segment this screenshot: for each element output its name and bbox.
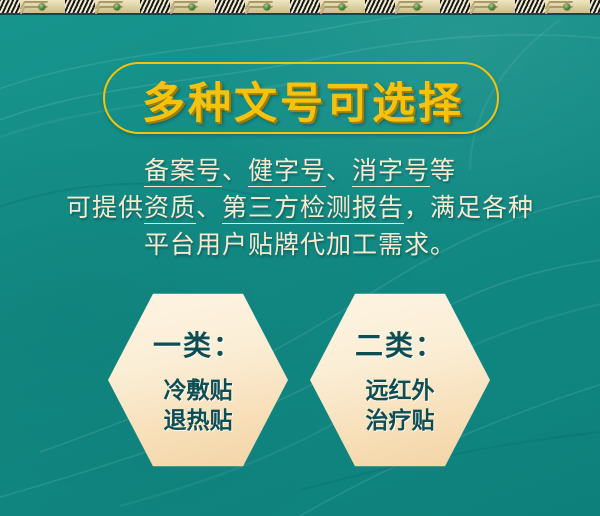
border-hatch-motif xyxy=(65,0,95,13)
border-hatch-motif xyxy=(440,0,470,13)
category-2-item-1: 远红外 xyxy=(366,376,435,406)
category-hexagon-1[interactable]: 一类： 冷敷贴 退热贴 xyxy=(108,292,288,468)
category-1-item-1: 冷敷贴 xyxy=(164,376,233,406)
description-segment-2-1: 可提供 xyxy=(66,193,144,222)
border-hatch-motif xyxy=(215,0,245,13)
border-jade-dot-icon xyxy=(114,4,120,10)
top-ornamental-border xyxy=(0,0,600,15)
border-hatch-motif xyxy=(365,0,395,13)
category-hexagon-2[interactable]: 二类： 远红外 治疗贴 xyxy=(310,292,490,468)
border-jade-dot-icon xyxy=(564,4,570,10)
category-hexagon-2-content: 二类： 远红外 治疗贴 xyxy=(310,292,490,468)
poster-canvas: 多种文号可选择 备案号、健字号、消字号等 可提供资质、第三方检测报告，满足各种 … xyxy=(0,0,600,516)
description-segment-1-6: 等 xyxy=(430,156,456,185)
description-segment-1-3: 健字号 xyxy=(248,156,326,187)
border-hatch-motif xyxy=(140,0,170,13)
description-line-3: 平台用户贴牌代加工需求。 xyxy=(0,226,600,263)
border-jade-dot-icon xyxy=(189,4,195,10)
description-segment-1-1: 备案号 xyxy=(144,156,222,187)
page-title: 多种文号可选择 xyxy=(105,64,501,136)
border-jade-dot-icon xyxy=(264,4,270,10)
description-segment-1-5: 消字号 xyxy=(352,156,430,187)
description-segment-2-4: 第三方检测报告 xyxy=(222,193,404,224)
description-line-2: 可提供资质、第三方检测报告，满足各种 xyxy=(0,189,600,226)
border-jade-dot-icon xyxy=(489,4,495,10)
description-segment-1-2: 、 xyxy=(222,156,248,185)
border-jade-dot-icon xyxy=(39,4,45,10)
description-segment-1-4: 、 xyxy=(326,156,352,185)
description-segment-2-3: 、 xyxy=(196,193,222,222)
border-hatch-motif xyxy=(0,0,20,13)
border-hatch-motif xyxy=(515,0,545,13)
description-segment-2-5: ，满足各种 xyxy=(404,193,534,222)
border-hatch-motif xyxy=(590,0,600,13)
border-hatch-motif xyxy=(290,0,320,13)
category-1-title: 一类： xyxy=(153,324,243,364)
title-frame: 多种文号可选择 xyxy=(103,62,499,134)
category-2-title: 二类： xyxy=(355,324,445,364)
description-segment-2-2: 资质 xyxy=(144,193,196,224)
category-1-item-2: 退热贴 xyxy=(164,406,233,436)
description-line-1: 备案号、健字号、消字号等 xyxy=(0,152,600,189)
category-hexagon-1-content: 一类： 冷敷贴 退热贴 xyxy=(108,292,288,468)
border-jade-dot-icon xyxy=(414,4,420,10)
description-segment-3-1: 平台用户贴牌代加工需求。 xyxy=(144,230,456,259)
border-jade-dot-icon xyxy=(339,4,345,10)
category-2-item-2: 治疗贴 xyxy=(366,406,435,436)
description-block: 备案号、健字号、消字号等 可提供资质、第三方检测报告，满足各种 平台用户贴牌代加… xyxy=(0,152,600,263)
